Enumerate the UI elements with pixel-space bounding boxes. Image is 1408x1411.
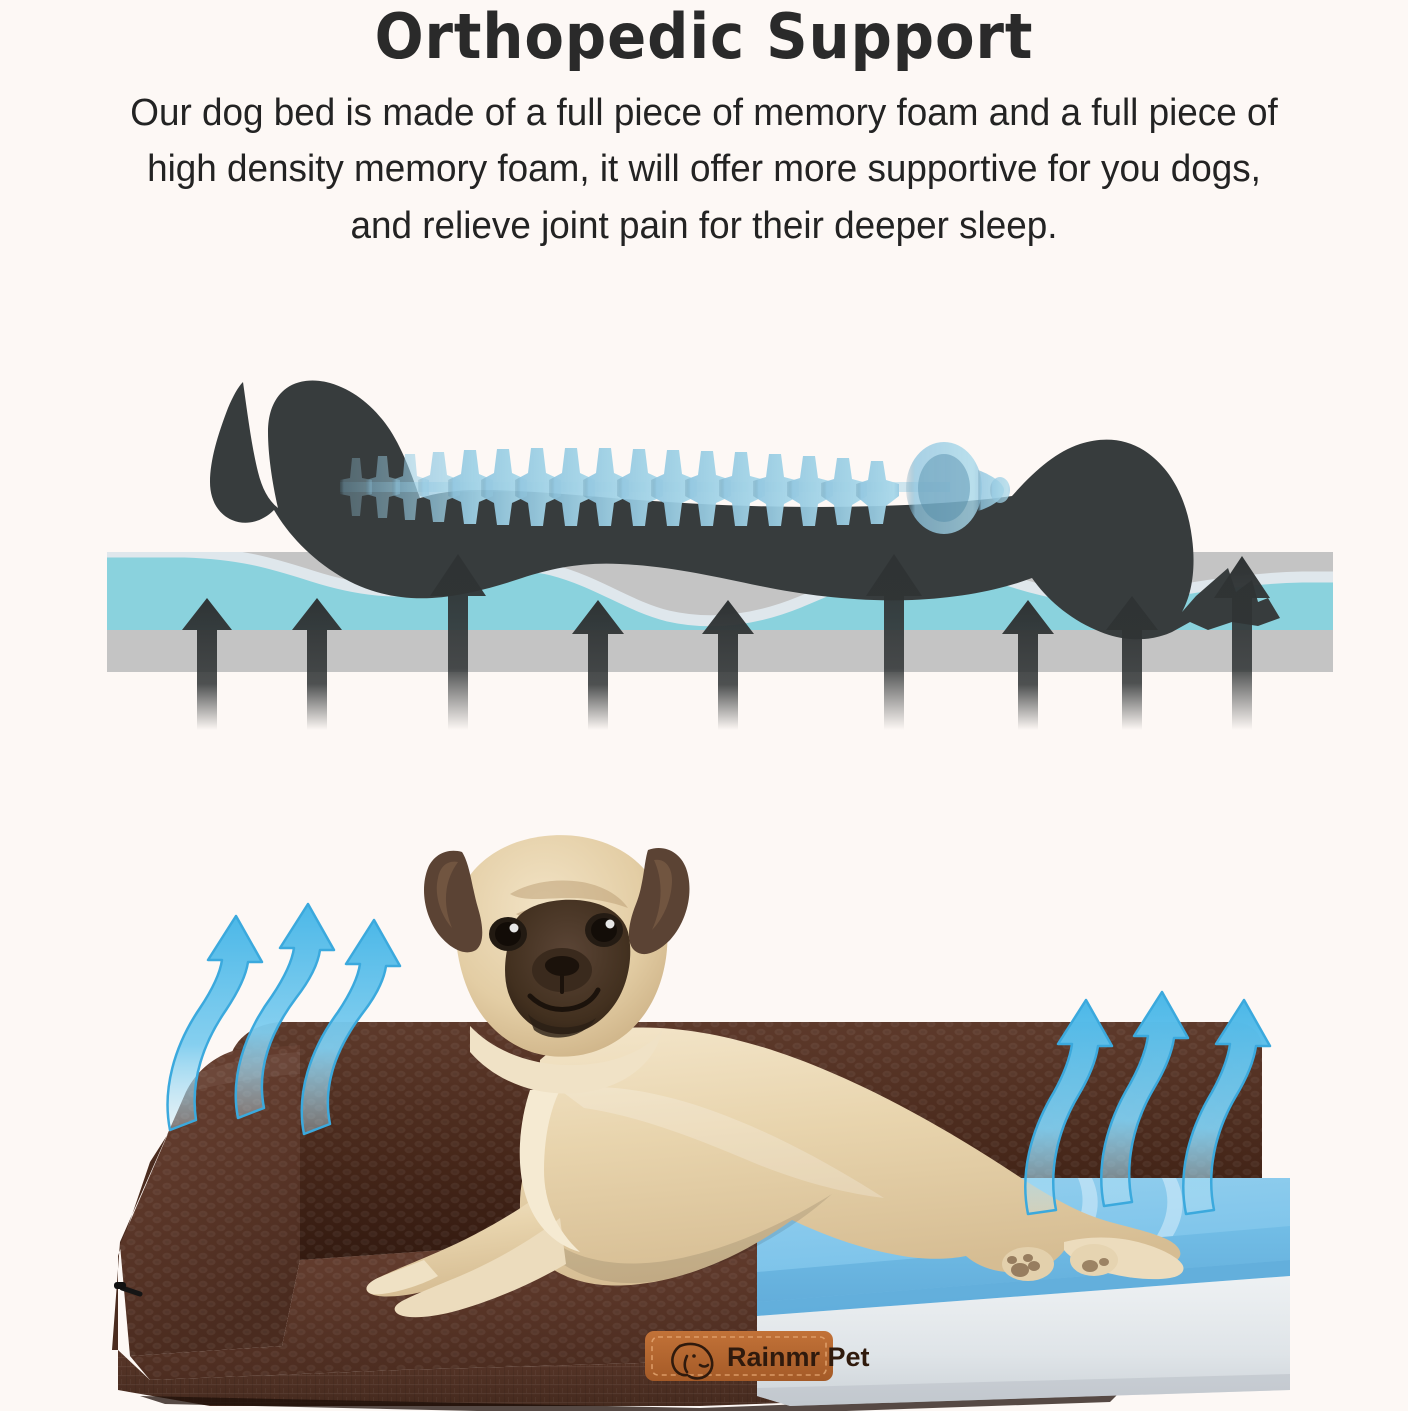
dog-bed-product-photo: Rainmr Pet (0, 790, 1408, 1411)
description-line-3: and relieve joint pain for their deeper … (40, 198, 1369, 254)
page-description: Our dog bed is made of a full piece of m… (40, 85, 1369, 254)
header-block: Orthopedic Support Our dog bed is made o… (0, 0, 1408, 254)
brand-label-text: Rainmr Pet (727, 1342, 870, 1372)
description-line-2: high density memory foam, it will offer … (40, 141, 1369, 197)
page-title: Orthopedic Support (49, 4, 1358, 69)
description-line-1: Our dog bed is made of a full piece of m… (40, 85, 1369, 141)
bed-left-arm (112, 1045, 300, 1356)
orthopedic-support-diagram (0, 330, 1408, 730)
